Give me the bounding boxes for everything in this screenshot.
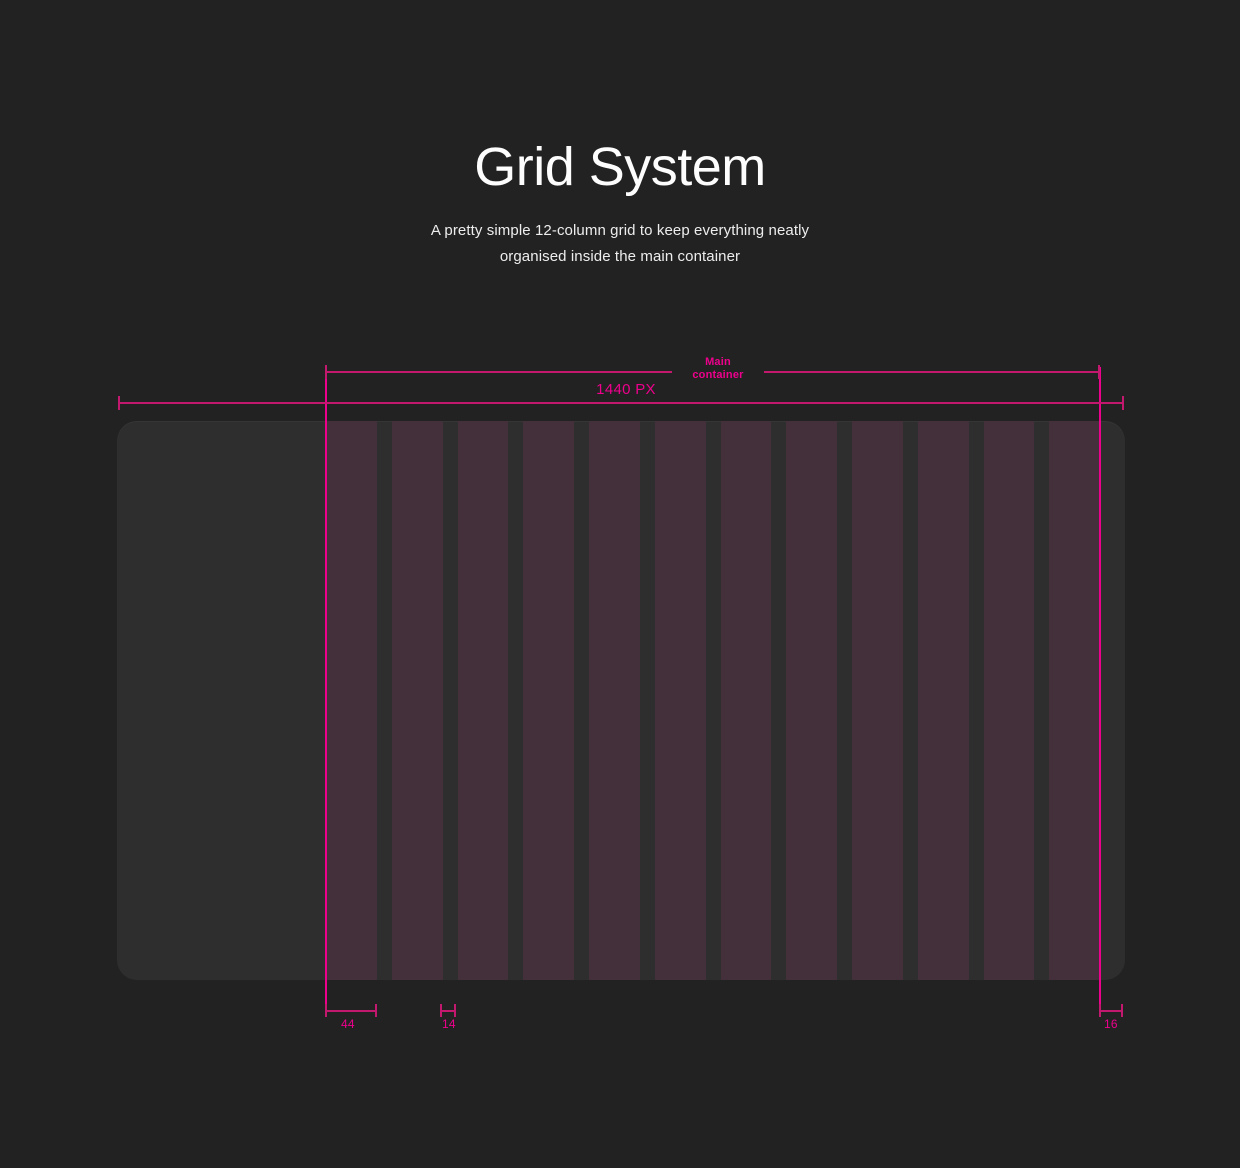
grid-column [852, 421, 903, 980]
guide-line-container-left [325, 367, 327, 1004]
grid-column [523, 421, 574, 980]
tick-margin-right-right [1121, 1004, 1123, 1017]
tick-gutter-outer-right [375, 1004, 377, 1017]
label-main-container-line-1: Main [705, 356, 731, 368]
label-total-width: 1440 PX [560, 383, 692, 396]
measure-line-gutter-outer [325, 1010, 377, 1012]
grid-column [326, 421, 377, 980]
grid-column [458, 421, 509, 980]
grid-column [984, 421, 1035, 980]
measure-line-total-width [118, 402, 1124, 404]
grid-column [918, 421, 969, 980]
label-gutter-outer: 44 [341, 1018, 355, 1031]
grid-columns-layer [326, 421, 1100, 980]
grid-column [655, 421, 706, 980]
guide-line-container-right [1099, 367, 1101, 1004]
label-main-container: Main container [672, 356, 764, 382]
label-margin-right: 16 [1104, 1018, 1118, 1031]
grid-column [1049, 421, 1100, 980]
tick-main-container-right [1098, 365, 1100, 379]
grid-column [392, 421, 443, 980]
grid-column [786, 421, 837, 980]
tick-total-width-right [1122, 396, 1124, 410]
grid-column [589, 421, 640, 980]
grid-column [721, 421, 772, 980]
label-gutter-inner: 14 [442, 1018, 456, 1031]
label-main-container-line-2: container [692, 369, 743, 381]
tick-gutter-inner-right [454, 1004, 456, 1017]
grid-system-diagram: Main container 1440 PX 44 14 16 [0, 0, 1240, 1168]
measure-line-margin-right [1099, 1010, 1123, 1012]
